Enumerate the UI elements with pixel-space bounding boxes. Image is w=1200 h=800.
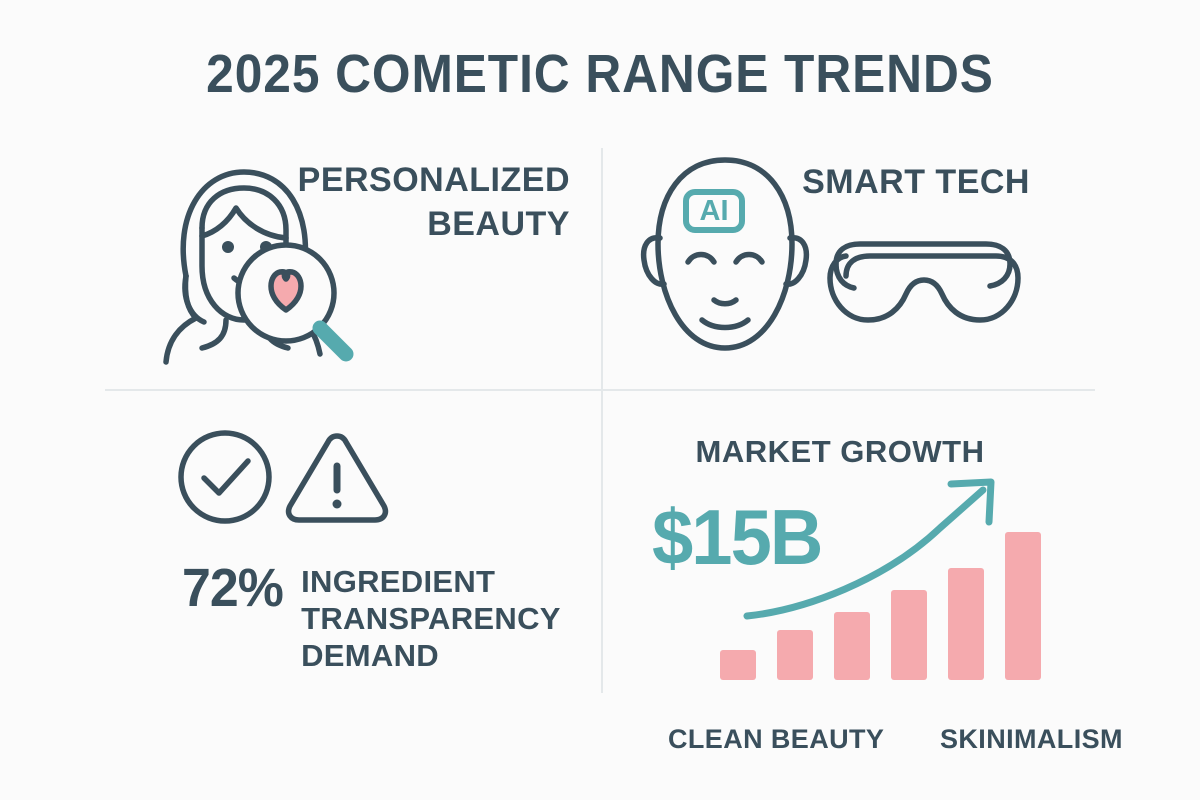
ai-badge-label: AI	[700, 195, 729, 227]
smart-tech-heading: SMART TECH	[740, 160, 1030, 204]
personalized-beauty-heading: PERSONALIZED BEAUTY	[270, 158, 570, 246]
ingredient-transparency-stat: 72% INGREDIENT TRANSPARENCY DEMAND	[182, 560, 561, 674]
chart-bar	[777, 630, 813, 680]
growth-trend-arrow-icon	[735, 470, 1025, 630]
chart-bar	[720, 650, 756, 680]
vertical-divider	[601, 148, 603, 693]
bar-label-clean-beauty: CLEAN BEAUTY	[668, 722, 884, 756]
horizontal-divider	[105, 389, 1095, 391]
warning-triangle-icon	[282, 428, 392, 526]
bar-label-skinimalism: SKINIMALISM	[940, 722, 1123, 756]
smart-glasses-icon	[820, 238, 1025, 328]
infographic-canvas: 2025 COMETIC RANGE TRENDS PERSONALI	[0, 0, 1200, 800]
stat-percentage: 72%	[182, 560, 283, 616]
check-circle-icon	[176, 428, 274, 526]
stat-description: INGREDIENT TRANSPARENCY DEMAND	[301, 560, 561, 674]
magnifier-shape	[238, 245, 346, 354]
market-growth-heading: MARKET GROWTH	[640, 432, 1040, 472]
page-title: 2025 COMETIC RANGE TRENDS	[48, 44, 1152, 104]
